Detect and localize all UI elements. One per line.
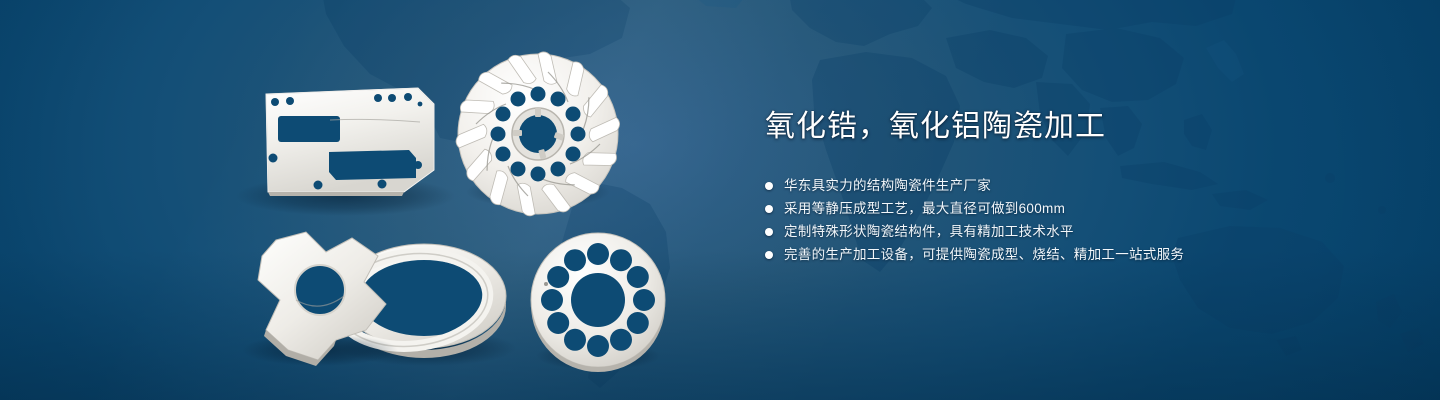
list-item: 完善的生产加工设备，可提供陶瓷成型、烧结、精加工一站式服务	[765, 243, 1365, 266]
banner-copy: 氧化锆，氧化铝陶瓷加工 华东具实力的结构陶瓷件生产厂家 采用等静压成型工艺，最大…	[765, 107, 1365, 266]
list-item-label: 采用等静压成型工艺，最大直径可做到600mm	[784, 197, 1065, 220]
bullet-dot-icon	[765, 251, 773, 259]
page-title: 氧化锆，氧化铝陶瓷加工	[765, 107, 1365, 147]
bullet-dot-icon	[765, 205, 773, 213]
list-item-label: 定制特殊形状陶瓷结构件，具有精加工技术水平	[784, 220, 1074, 243]
list-item: 华东具实力的结构陶瓷件生产厂家	[765, 174, 1365, 197]
feature-list: 华东具实力的结构陶瓷件生产厂家 采用等静压成型工艺，最大直径可做到600mm 定…	[765, 174, 1365, 266]
list-item: 采用等静压成型工艺，最大直径可做到600mm	[765, 197, 1365, 220]
bullet-dot-icon	[765, 182, 773, 190]
list-item-label: 完善的生产加工设备，可提供陶瓷成型、烧结、精加工一站式服务	[784, 243, 1184, 266]
ceramic-products-photo-group	[0, 0, 720, 400]
list-item: 定制特殊形状陶瓷结构件，具有精加工技术水平	[765, 220, 1365, 243]
ceramic-cross-plate-graphic	[242, 232, 398, 366]
promo-banner: 氧化锆，氧化铝陶瓷加工 华东具实力的结构陶瓷件生产厂家 采用等静压成型工艺，最大…	[0, 0, 1440, 400]
ceramic-holed-disc-graphic	[531, 233, 665, 372]
bullet-dot-icon	[765, 228, 773, 236]
ceramic-flat-plate-graphic	[235, 88, 455, 216]
ceramic-impeller-graphic	[454, 51, 622, 217]
list-item-label: 华东具实力的结构陶瓷件生产厂家	[784, 174, 991, 197]
